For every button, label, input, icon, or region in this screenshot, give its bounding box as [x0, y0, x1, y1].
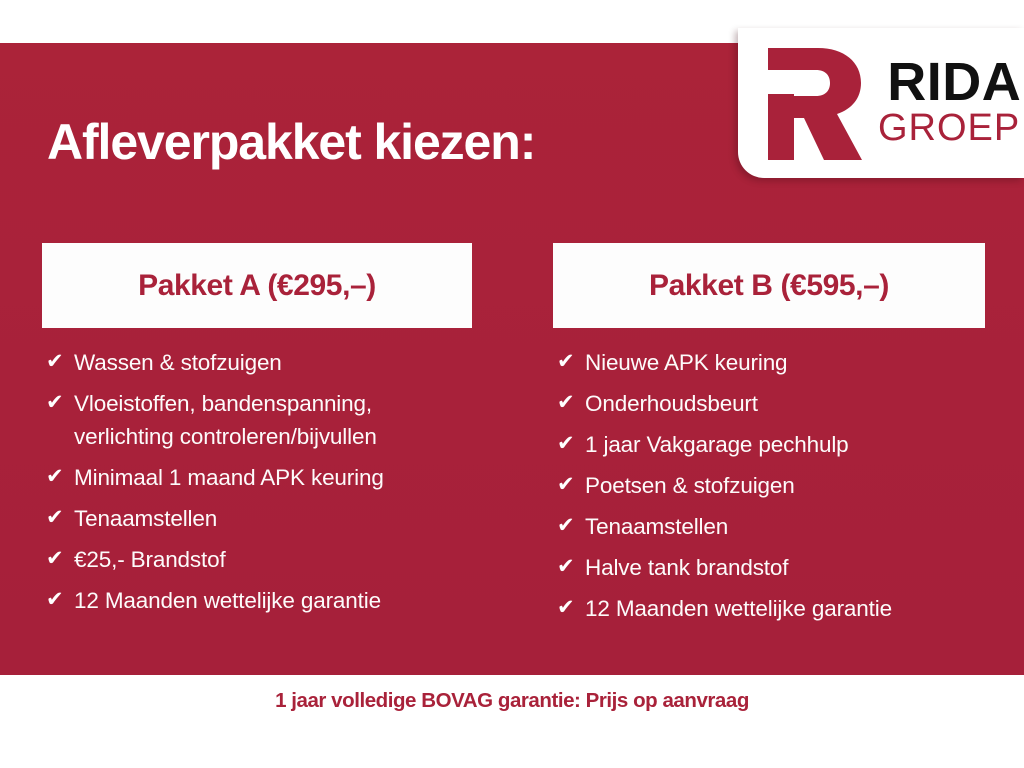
- package-a-header: Pakket A (€295,–): [42, 243, 472, 328]
- check-icon: ✔: [557, 430, 585, 457]
- list-item: ✔ Nieuwe APK keuring: [557, 346, 985, 379]
- package-a-title: Pakket A (€295,–): [138, 269, 376, 303]
- feature-label: Halve tank brandstof: [585, 551, 788, 584]
- brand-logo-primary: RIDA: [887, 58, 1021, 108]
- feature-label: Poetsen & stofzuigen: [585, 469, 795, 502]
- brand-logo-plate: RIDA GROEP: [738, 28, 1024, 178]
- list-item: ✔ €25,- Brandstof: [46, 543, 472, 576]
- feature-label: Nieuwe APK keuring: [585, 346, 787, 379]
- feature-label: Vloeistoffen, bandenspanning, verlichtin…: [74, 387, 472, 453]
- rida-r-monogram-icon: [758, 48, 864, 160]
- packages-container: Pakket A (€295,–) ✔ Wassen & stofzuigen …: [0, 243, 1024, 643]
- check-icon: ✔: [557, 594, 585, 621]
- footer-bar: 1 jaar volledige BOVAG garantie: Prijs o…: [0, 675, 1024, 768]
- feature-label: Tenaamstellen: [585, 510, 728, 543]
- check-icon: ✔: [557, 553, 585, 580]
- feature-label: Wassen & stofzuigen: [74, 346, 282, 379]
- check-icon: ✔: [46, 463, 74, 490]
- feature-label: Tenaamstellen: [74, 502, 217, 535]
- package-card-a: Pakket A (€295,–) ✔ Wassen & stofzuigen …: [42, 243, 472, 625]
- check-icon: ✔: [46, 504, 74, 531]
- list-item: ✔ Onderhoudsbeurt: [557, 387, 985, 420]
- footer-note: 1 jaar volledige BOVAG garantie: Prijs o…: [275, 689, 749, 713]
- feature-label: Onderhoudsbeurt: [585, 387, 758, 420]
- feature-label: 12 Maanden wettelijke garantie: [74, 584, 381, 617]
- brand-logo-wordmark: RIDA GROEP: [878, 58, 1021, 150]
- feature-label: 1 jaar Vakgarage pechhulp: [585, 428, 849, 461]
- list-item: ✔ Wassen & stofzuigen: [46, 346, 472, 379]
- brand-logo-secondary: GROEP: [878, 111, 1020, 146]
- page-title: Afleverpakket kiezen:: [47, 113, 535, 171]
- check-icon: ✔: [46, 389, 74, 416]
- afleverpakket-slide: RIDA GROEP Afleverpakket kiezen: Pakket …: [0, 0, 1024, 768]
- brand-logo: RIDA GROEP: [758, 42, 1010, 166]
- feature-label: 12 Maanden wettelijke garantie: [585, 592, 892, 625]
- list-item: ✔ Vloeistoffen, bandenspanning, verlicht…: [46, 387, 472, 453]
- check-icon: ✔: [557, 348, 585, 375]
- feature-label: Minimaal 1 maand APK keuring: [74, 461, 384, 494]
- list-item: ✔ Minimaal 1 maand APK keuring: [46, 461, 472, 494]
- package-b-title: Pakket B (€595,–): [649, 269, 889, 303]
- check-icon: ✔: [46, 545, 74, 572]
- package-b-header: Pakket B (€595,–): [553, 243, 985, 328]
- list-item: ✔ 12 Maanden wettelijke garantie: [557, 592, 985, 625]
- check-icon: ✔: [557, 389, 585, 416]
- list-item: ✔ Tenaamstellen: [557, 510, 985, 543]
- check-icon: ✔: [46, 348, 74, 375]
- list-item: ✔ Halve tank brandstof: [557, 551, 985, 584]
- list-item: ✔ 12 Maanden wettelijke garantie: [46, 584, 472, 617]
- list-item: ✔ Tenaamstellen: [46, 502, 472, 535]
- list-item: ✔ Poetsen & stofzuigen: [557, 469, 985, 502]
- check-icon: ✔: [557, 512, 585, 539]
- package-b-feature-list: ✔ Nieuwe APK keuring ✔ Onderhoudsbeurt ✔…: [553, 328, 985, 625]
- package-a-feature-list: ✔ Wassen & stofzuigen ✔ Vloeistoffen, ba…: [42, 328, 472, 617]
- package-card-b: Pakket B (€595,–) ✔ Nieuwe APK keuring ✔…: [553, 243, 985, 633]
- feature-label: €25,- Brandstof: [74, 543, 226, 576]
- check-icon: ✔: [557, 471, 585, 498]
- check-icon: ✔: [46, 586, 74, 613]
- list-item: ✔ 1 jaar Vakgarage pechhulp: [557, 428, 985, 461]
